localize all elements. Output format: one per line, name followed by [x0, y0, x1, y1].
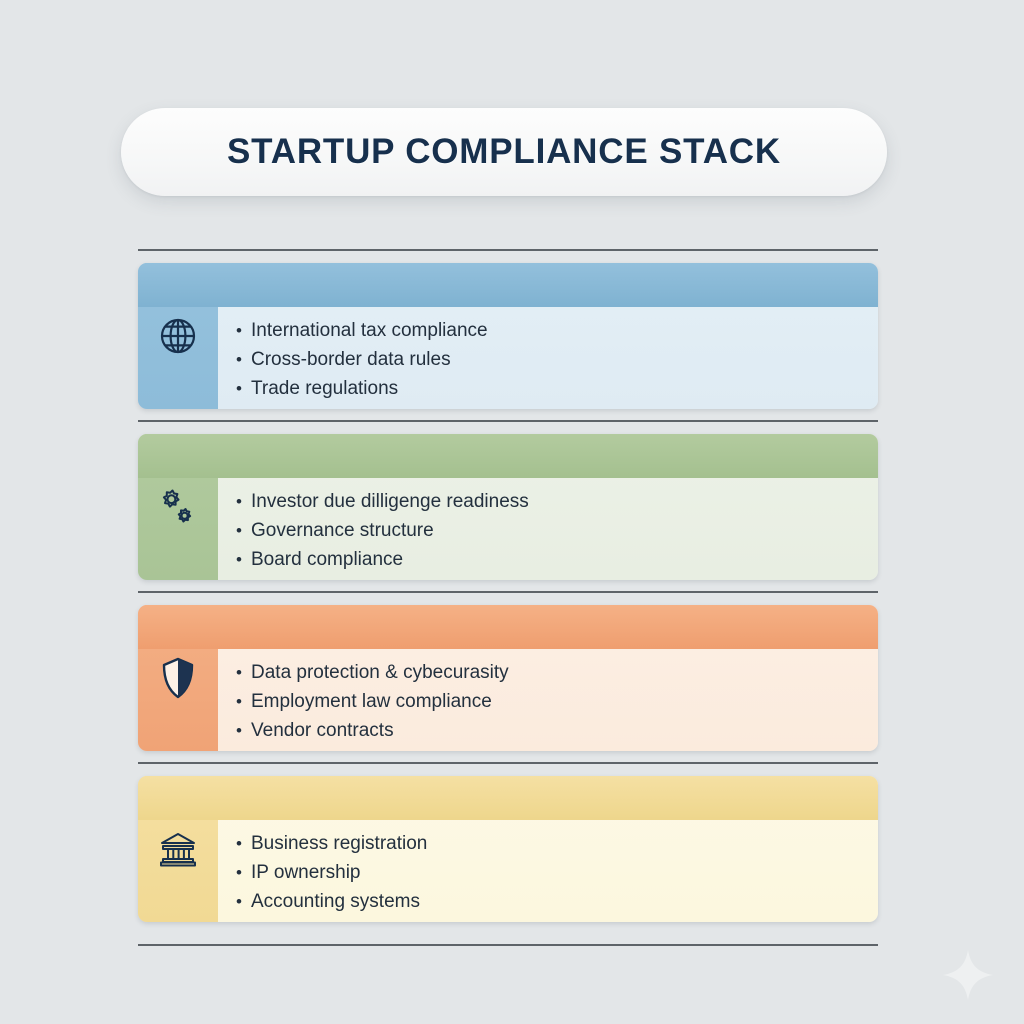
page-title: STARTUP COMPLIANCE STACK	[227, 132, 781, 172]
layer-bullet-list: • Data protection & cybecurasity • Emplo…	[218, 649, 878, 751]
bullet-icon: •	[236, 658, 251, 687]
layer-slot-2: Operational Layer • Data protection & cy…	[138, 591, 878, 762]
bullet-icon: •	[236, 829, 251, 858]
gears-icon	[138, 434, 218, 580]
list-item: • Employment law compliance	[236, 687, 860, 716]
bullet-icon: •	[236, 887, 251, 916]
bank-icon	[138, 776, 218, 922]
layer-bullet-list: • Investor due dilligenge readiness • Go…	[218, 478, 878, 580]
bullet-icon: •	[236, 345, 251, 374]
list-item-label: Governance structure	[251, 516, 434, 545]
bullet-icon: •	[236, 374, 251, 403]
bullet-icon: •	[236, 687, 251, 716]
globe-icon	[138, 263, 218, 409]
bullet-icon: •	[236, 716, 251, 745]
header-band	[138, 434, 878, 478]
list-item-label: Investor due dilligenge readiness	[251, 487, 529, 516]
layer-card-foundational[interactable]: Layer 1: Foundational Layer • Business r…	[138, 776, 878, 922]
layer-slot-3: Layer 3: Strategic Layer • Investor due …	[138, 420, 878, 591]
list-item-label: Cross-border data rules	[251, 345, 451, 374]
bullet-icon: •	[236, 545, 251, 574]
layer-slot-4: Layer 4: Expansion Layer • International…	[138, 251, 878, 420]
list-item-label: Accounting systems	[251, 887, 420, 916]
bullet-icon: •	[236, 316, 251, 345]
list-item-label: Board compliance	[251, 545, 403, 574]
header-band	[138, 263, 878, 307]
list-item: • Trade regulations	[236, 374, 860, 403]
list-item-label: Trade regulations	[251, 374, 398, 403]
list-item: • Data protection & cybecurasity	[236, 658, 860, 687]
layer-card-expansion[interactable]: Layer 4: Expansion Layer • International…	[138, 263, 878, 409]
list-item-label: Employment law compliance	[251, 687, 492, 716]
list-item-label: International tax compliance	[251, 316, 488, 345]
list-item: • International tax compliance	[236, 316, 860, 345]
layer-bullet-list: • Business registration • IP ownership •…	[218, 820, 878, 922]
list-item: • IP ownership	[236, 858, 860, 887]
compliance-stack: Layer 4: Expansion Layer • International…	[138, 249, 878, 946]
stack-bottom-divider	[138, 944, 878, 946]
list-item: • Business registration	[236, 829, 860, 858]
sparkle-icon	[941, 948, 995, 1002]
list-item: • Accounting systems	[236, 887, 860, 916]
list-item-label: Vendor contracts	[251, 716, 394, 745]
list-item: • Investor due dilligenge readiness	[236, 487, 860, 516]
layer-card-operational[interactable]: Operational Layer • Data protection & cy…	[138, 605, 878, 751]
bullet-icon: •	[236, 487, 251, 516]
header-band	[138, 776, 878, 820]
list-item: • Board compliance	[236, 545, 860, 574]
layer-slot-1: Layer 1: Foundational Layer • Business r…	[138, 762, 878, 933]
bullet-icon: •	[236, 516, 251, 545]
list-item-label: IP ownership	[251, 858, 361, 887]
list-item-label: Business registration	[251, 829, 427, 858]
list-item: • Governance structure	[236, 516, 860, 545]
shield-icon	[138, 605, 218, 751]
list-item: • Cross-border data rules	[236, 345, 860, 374]
title-banner: STARTUP COMPLIANCE STACK	[121, 108, 887, 196]
list-item-label: Data protection & cybecurasity	[251, 658, 509, 687]
title-pill: STARTUP COMPLIANCE STACK	[121, 108, 887, 196]
layer-card-strategic[interactable]: Layer 3: Strategic Layer • Investor due …	[138, 434, 878, 580]
list-item: • Vendor contracts	[236, 716, 860, 745]
bullet-icon: •	[236, 858, 251, 887]
header-band	[138, 605, 878, 649]
layer-bullet-list: • International tax compliance • Cross-b…	[218, 307, 878, 409]
